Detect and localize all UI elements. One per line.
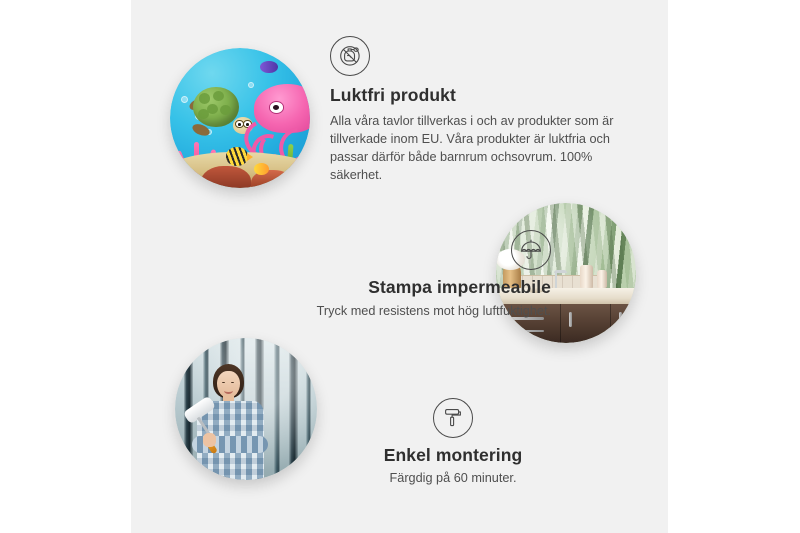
feature-description: Tryck med resistens mot hög luftfuktighe… — [206, 302, 551, 320]
fish-purple — [260, 61, 278, 74]
bubble-icon — [181, 96, 188, 103]
bottle — [597, 270, 607, 288]
woman-with-paint-roller — [186, 364, 288, 480]
feature-title: Enkel montering — [323, 445, 583, 466]
no-fragrance-icon — [330, 36, 370, 76]
feature-waterproof-print: Stampa impermeabile Tryck med resistens … — [206, 230, 551, 320]
feature-odour-free: Luktfri produkt Alla våra tavlor tillver… — [330, 36, 630, 184]
fish-yellow-striped — [226, 147, 248, 165]
feature-title: Luktfri produkt — [330, 85, 630, 106]
faucet — [555, 273, 558, 288]
photo-forest-mural-woman — [175, 338, 317, 480]
feature-title: Stampa impermeabile — [206, 277, 551, 298]
screenshot-root: Luktfri produkt Alla våra tavlor tillver… — [0, 0, 800, 533]
paint-roller-icon — [433, 398, 473, 438]
bottle — [580, 265, 593, 289]
feature-easy-mounting: Enkel montering Färgdig på 60 minuter. — [323, 398, 583, 487]
content-panel: Luktfri produkt Alla våra tavlor tillver… — [131, 0, 668, 533]
photo-sea-life-mural — [170, 48, 310, 188]
feature-description: Alla våra tavlor tillverkas i och av pro… — [330, 112, 630, 184]
umbrella-icon — [511, 230, 551, 270]
feature-description: Färgdig på 60 minuter. — [323, 469, 583, 487]
